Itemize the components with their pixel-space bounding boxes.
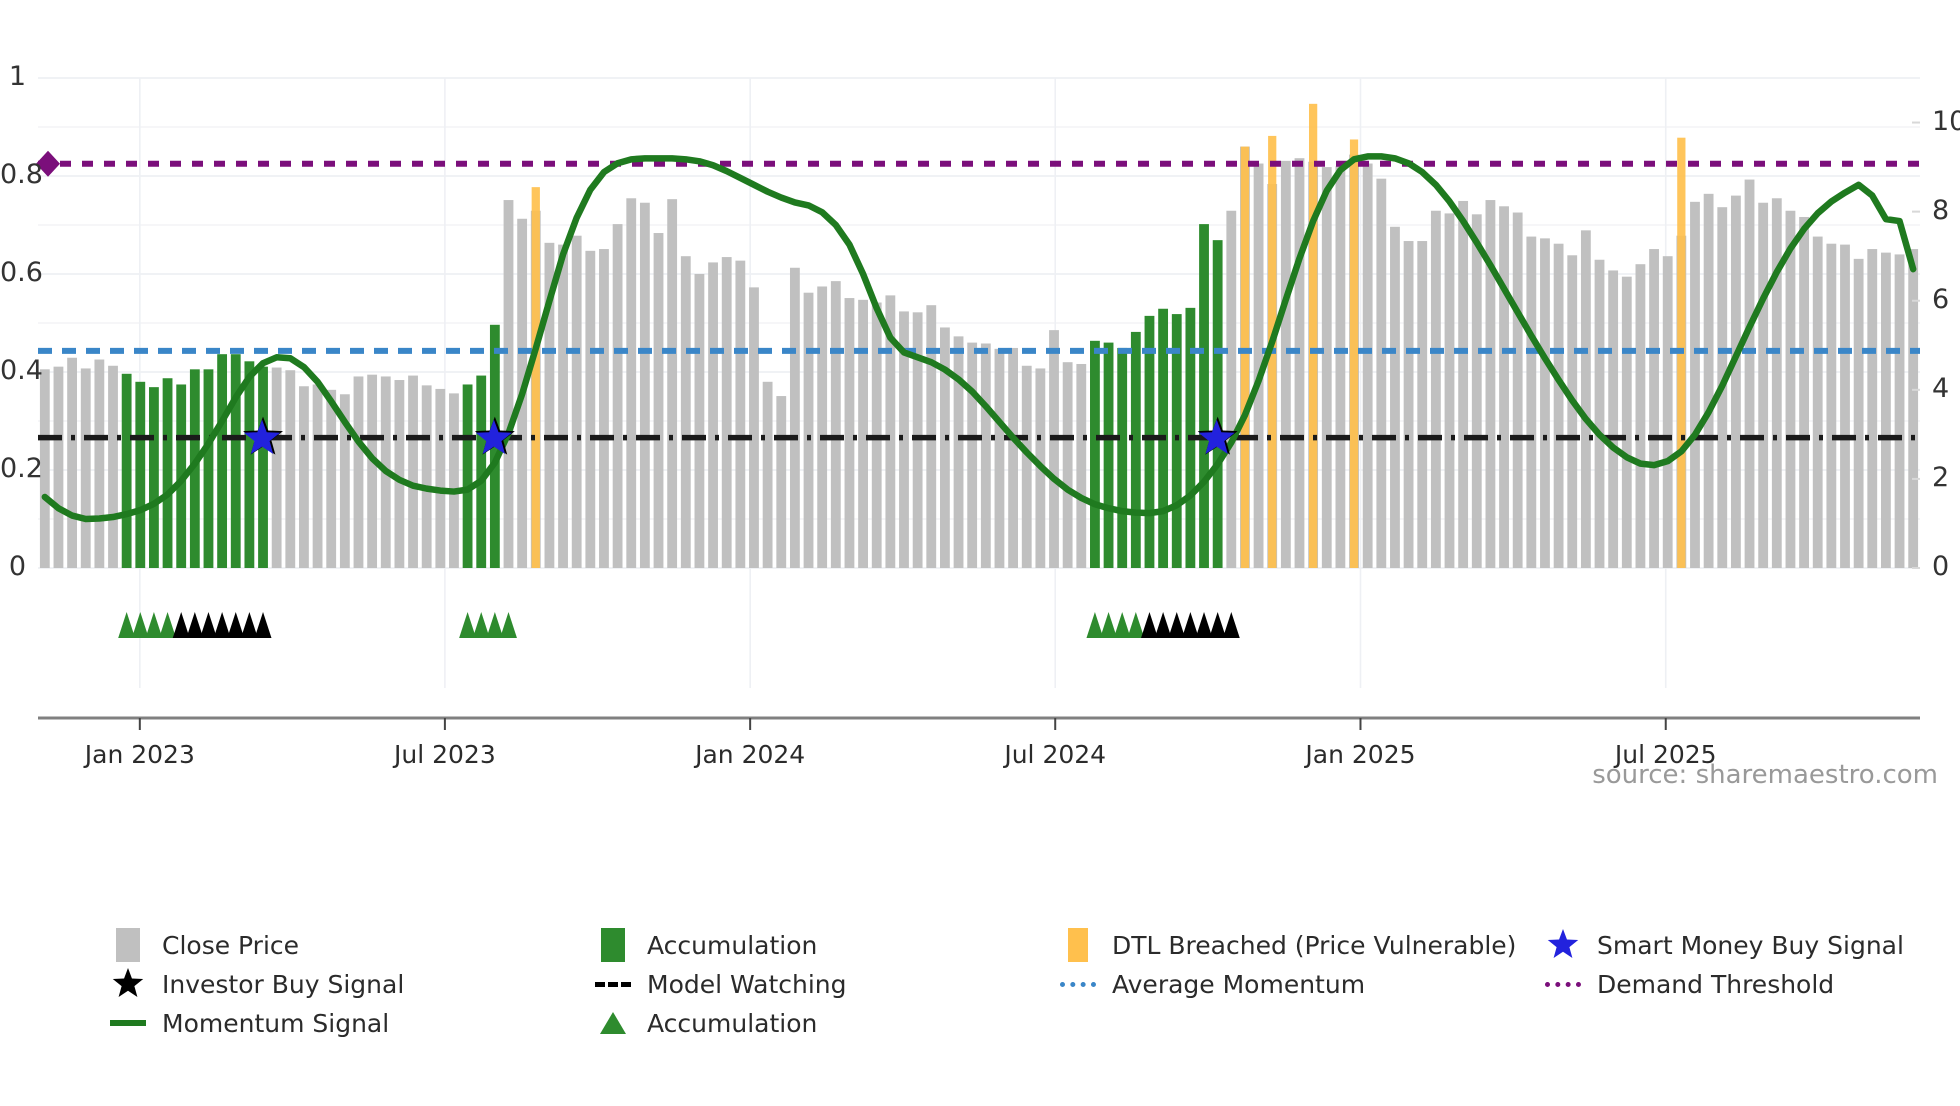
- square-icon: [601, 928, 625, 962]
- bar-accumulation: [231, 354, 241, 568]
- bar-close-price: [1731, 196, 1741, 568]
- source-attribution: source: sharemaestro.com: [1592, 760, 1938, 790]
- bar-accumulation: [1117, 348, 1127, 568]
- bar-close-price: [1786, 211, 1796, 568]
- bar-close-price: [558, 245, 568, 568]
- bar-close-price: [1076, 364, 1086, 568]
- bar-close-price: [981, 343, 991, 568]
- bar-close-price: [1908, 249, 1918, 568]
- bar-close-price: [272, 368, 282, 568]
- bar-close-price: [1581, 230, 1591, 568]
- bar-close-price: [654, 233, 664, 568]
- y-axis-right-tick-label: 6: [1932, 284, 1949, 315]
- marker-accumulation-triangle: [1086, 612, 1103, 638]
- bar-close-price: [1813, 237, 1823, 568]
- legend-item[interactable]: Model Watching: [595, 967, 847, 1001]
- bar-close-price: [1826, 244, 1836, 568]
- bar-close-price: [1690, 202, 1700, 568]
- bar-close-price: [749, 287, 759, 568]
- marker-accumulation-triangle: [1155, 612, 1172, 638]
- y-axis-left-tick-label: 1: [0, 61, 26, 92]
- bar-close-price: [408, 376, 418, 568]
- legend-swatch-accumulation-triangle: [595, 1006, 631, 1040]
- legend-swatch-dtl: [1060, 928, 1096, 962]
- marker-accumulation-triangle: [200, 612, 217, 638]
- bar-close-price: [804, 293, 814, 568]
- bar-close-price: [1431, 211, 1441, 568]
- dotted-line-icon: [1060, 982, 1096, 987]
- bar-accumulation: [163, 378, 173, 568]
- bar-close-price: [585, 251, 595, 568]
- legend-item[interactable]: Momentum Signal: [110, 1006, 389, 1040]
- bar-close-price: [967, 343, 977, 568]
- marker-accumulation-triangle: [145, 612, 162, 638]
- y-axis-right-tick-label: 10: [1932, 106, 1960, 137]
- legend-swatch-demand-threshold: [1545, 967, 1581, 1001]
- marker-accumulation-triangle: [1196, 612, 1213, 638]
- y-axis-left-tick-label: 0.6: [0, 257, 26, 288]
- bar-close-price: [422, 385, 432, 568]
- bar-close-price: [776, 396, 786, 568]
- bar-close-price: [995, 349, 1005, 568]
- bar-accumulation: [135, 382, 145, 568]
- y-axis-left-tick-label: 0.2: [0, 453, 26, 484]
- bar-close-price: [354, 376, 364, 568]
- bar-close-price: [1008, 348, 1018, 568]
- legend-item-label: Model Watching: [647, 970, 847, 999]
- bar-close-price: [1022, 366, 1032, 568]
- bar-accumulation: [463, 384, 473, 568]
- bar-close-price: [572, 236, 582, 568]
- bar-close-price: [845, 298, 855, 568]
- bar-accumulation: [1090, 341, 1100, 568]
- bar-dtl-breached: [1241, 147, 1249, 568]
- bar-accumulation: [1131, 332, 1141, 568]
- marker-accumulation-triangle: [1127, 612, 1144, 638]
- bar-accumulation: [1104, 343, 1114, 568]
- marker-accumulation-triangle: [1168, 612, 1185, 638]
- legend-swatch-model-watching: [595, 967, 631, 1001]
- bar-close-price: [1390, 227, 1400, 568]
- marker-accumulation-triangle: [1114, 612, 1131, 638]
- bar-close-price: [1840, 245, 1850, 568]
- bar-close-price: [763, 382, 773, 568]
- x-axis-tick-label: Jan 2024: [640, 740, 860, 769]
- bar-close-price: [735, 261, 745, 568]
- legend-item-label: Investor Buy Signal: [162, 970, 404, 999]
- bar-close-price: [326, 390, 336, 568]
- bar-close-price: [285, 370, 295, 568]
- bar-close-price: [1335, 166, 1345, 568]
- bar-close-price: [817, 286, 827, 568]
- bar-close-price: [54, 367, 64, 568]
- marker-accumulation-triangle: [500, 612, 517, 638]
- bar-close-price: [1526, 237, 1536, 568]
- bar-close-price: [1649, 249, 1659, 568]
- triangle-icon: [600, 1012, 626, 1034]
- bar-close-price: [504, 200, 514, 568]
- bar-close-price: [367, 375, 377, 568]
- bar-close-price: [681, 256, 691, 568]
- legend-item[interactable]: DTL Breached (Price Vulnerable): [1060, 928, 1516, 962]
- bar-close-price: [1499, 206, 1509, 568]
- y-axis-right-tick-label: 2: [1932, 462, 1949, 493]
- y-axis-left-tick-label: 0: [0, 551, 26, 582]
- legend-swatch-average-momentum: [1060, 967, 1096, 1001]
- bar-close-price: [1404, 241, 1414, 568]
- bar-close-price: [1854, 259, 1864, 568]
- legend-swatch-smart-money: [1545, 928, 1581, 962]
- momentum-accumulation-chart: 00.20.40.60.81 0246810 Jan 2023Jul 2023J…: [0, 0, 1960, 1102]
- bar-close-price: [667, 199, 677, 568]
- bar-accumulation: [258, 367, 268, 568]
- bar-close-price: [1226, 211, 1236, 568]
- bar-close-price: [435, 389, 445, 568]
- bar-close-price: [1472, 214, 1482, 568]
- bar-dtl-breached: [1309, 104, 1317, 568]
- bar-close-price: [1567, 255, 1577, 568]
- bar-close-price: [954, 336, 964, 568]
- marker-accumulation-triangle: [186, 612, 203, 638]
- legend-item[interactable]: Investor Buy Signal: [110, 967, 404, 1001]
- bar-close-price: [1895, 254, 1905, 568]
- dotted-line-icon: [1545, 982, 1581, 987]
- marker-accumulation-triangle: [1100, 612, 1117, 638]
- bar-close-price: [299, 386, 309, 568]
- marker-accumulation-triangle: [241, 612, 258, 638]
- chart-legend: Close PriceAccumulationDTL Breached (Pri…: [0, 920, 1960, 1050]
- star-icon: [113, 968, 143, 997]
- bar-close-price: [108, 366, 118, 568]
- legend-item[interactable]: Close Price: [110, 928, 299, 962]
- bar-close-price: [1554, 244, 1564, 568]
- bar-close-price: [708, 262, 718, 568]
- legend-item-label: Demand Threshold: [1597, 970, 1834, 999]
- dashed-line-icon: [595, 982, 631, 987]
- bar-close-price: [1063, 362, 1073, 568]
- legend-item-label: Average Momentum: [1112, 970, 1365, 999]
- bar-close-price: [1622, 277, 1632, 568]
- marker-accumulation-triangle: [1209, 612, 1226, 638]
- bar-close-price: [1049, 330, 1059, 568]
- bar-dtl-breached: [532, 187, 540, 568]
- legend-item[interactable]: Accumulation: [595, 928, 817, 962]
- bar-accumulation: [244, 361, 254, 568]
- legend-item[interactable]: Smart Money Buy Signal: [1545, 928, 1904, 962]
- legend-item[interactable]: Average Momentum: [1060, 967, 1365, 1001]
- bar-close-price: [1322, 167, 1332, 568]
- marker-accumulation-triangle: [1182, 612, 1199, 638]
- bar-close-price: [1363, 164, 1373, 568]
- line-momentum-signal: [45, 156, 1913, 519]
- line-icon: [110, 1020, 146, 1026]
- bar-close-price: [1608, 270, 1618, 568]
- bar-close-price: [940, 327, 950, 568]
- legend-item-label: Smart Money Buy Signal: [1597, 931, 1904, 960]
- y-axis-left-tick-label: 0.8: [0, 159, 26, 190]
- bar-close-price: [1745, 180, 1755, 568]
- legend-item[interactable]: Demand Threshold: [1545, 967, 1834, 1001]
- bar-close-price: [790, 268, 800, 568]
- bar-accumulation: [1199, 224, 1209, 568]
- marker-accumulation-triangle: [118, 612, 135, 638]
- legend-item[interactable]: Accumulation: [595, 1006, 817, 1040]
- legend-item-label: Accumulation: [647, 931, 817, 960]
- marker-accumulation-triangle: [1141, 612, 1158, 638]
- bar-close-price: [1881, 253, 1891, 568]
- bar-close-price: [81, 368, 91, 568]
- bar-accumulation: [122, 374, 132, 568]
- legend-swatch-accumulation: [595, 928, 631, 962]
- bar-close-price: [1758, 203, 1768, 568]
- legend-item-label: Momentum Signal: [162, 1009, 389, 1038]
- bar-close-price: [1458, 201, 1468, 568]
- bar-close-price: [695, 274, 705, 568]
- marker-accumulation-triangle: [173, 612, 190, 638]
- bar-close-price: [1376, 179, 1386, 568]
- bar-close-price: [626, 198, 636, 568]
- y-axis-right-tick-label: 4: [1932, 373, 1949, 404]
- x-axis-tick-label: Jul 2024: [945, 740, 1165, 769]
- bar-close-price: [1540, 238, 1550, 568]
- bar-close-price: [613, 224, 623, 568]
- legend-item-label: DTL Breached (Price Vulnerable): [1112, 931, 1516, 960]
- bar-close-price: [1513, 213, 1523, 568]
- marker-accumulation-triangle: [459, 612, 476, 638]
- marker-accumulation-triangle: [159, 612, 176, 638]
- marker-accumulation-triangle: [473, 612, 490, 638]
- x-axis-tick-label: Jul 2023: [335, 740, 555, 769]
- square-icon: [1068, 928, 1088, 962]
- legend-swatch-momentum: [110, 1006, 146, 1040]
- bar-close-price: [313, 384, 323, 568]
- marker-accumulation-triangle: [1223, 612, 1240, 638]
- bar-close-price: [1799, 217, 1809, 568]
- marker-accumulation-triangle: [214, 612, 231, 638]
- bar-close-price: [599, 249, 609, 568]
- bar-accumulation: [149, 387, 159, 568]
- legend-item-label: Close Price: [162, 931, 299, 960]
- bar-close-price: [1281, 161, 1291, 568]
- bar-close-price: [67, 358, 77, 568]
- bar-accumulation: [204, 369, 214, 568]
- bar-close-price: [858, 300, 868, 568]
- legend-item-label: Accumulation: [647, 1009, 817, 1038]
- y-axis-left-tick-label: 0.4: [0, 355, 26, 386]
- square-icon: [116, 928, 140, 962]
- bar-close-price: [1663, 256, 1673, 568]
- marker-accumulation-triangle: [132, 612, 149, 638]
- bar-close-price: [722, 257, 732, 568]
- x-axis-tick-label: Jan 2025: [1250, 740, 1470, 769]
- star-icon: [1548, 929, 1578, 958]
- x-axis-tick-label: Jan 2023: [30, 740, 250, 769]
- marker-accumulation-triangle: [486, 612, 503, 638]
- bar-close-price: [1445, 213, 1455, 568]
- bar-close-price: [1636, 264, 1646, 568]
- bar-accumulation: [1213, 240, 1223, 568]
- bar-close-price: [94, 360, 104, 568]
- bar-close-price: [449, 393, 459, 568]
- bar-close-price: [1867, 249, 1877, 568]
- y-axis-right-tick-label: 0: [1932, 551, 1949, 582]
- legend-swatch-investor-buy: [110, 967, 146, 1001]
- bar-close-price: [640, 203, 650, 568]
- bar-close-price: [1417, 241, 1427, 568]
- bar-close-price: [1704, 194, 1714, 568]
- bar-accumulation: [217, 354, 227, 568]
- bar-close-price: [1772, 198, 1782, 568]
- bar-close-price: [1295, 158, 1305, 568]
- legend-swatch-close-price: [110, 928, 146, 962]
- bar-close-price: [1595, 260, 1605, 568]
- bar-close-price: [831, 281, 841, 568]
- marker-accumulation-triangle: [255, 612, 272, 638]
- marker-accumulation-triangle: [227, 612, 244, 638]
- y-axis-right-tick-label: 8: [1932, 195, 1949, 226]
- bar-dtl-breached: [1350, 139, 1358, 568]
